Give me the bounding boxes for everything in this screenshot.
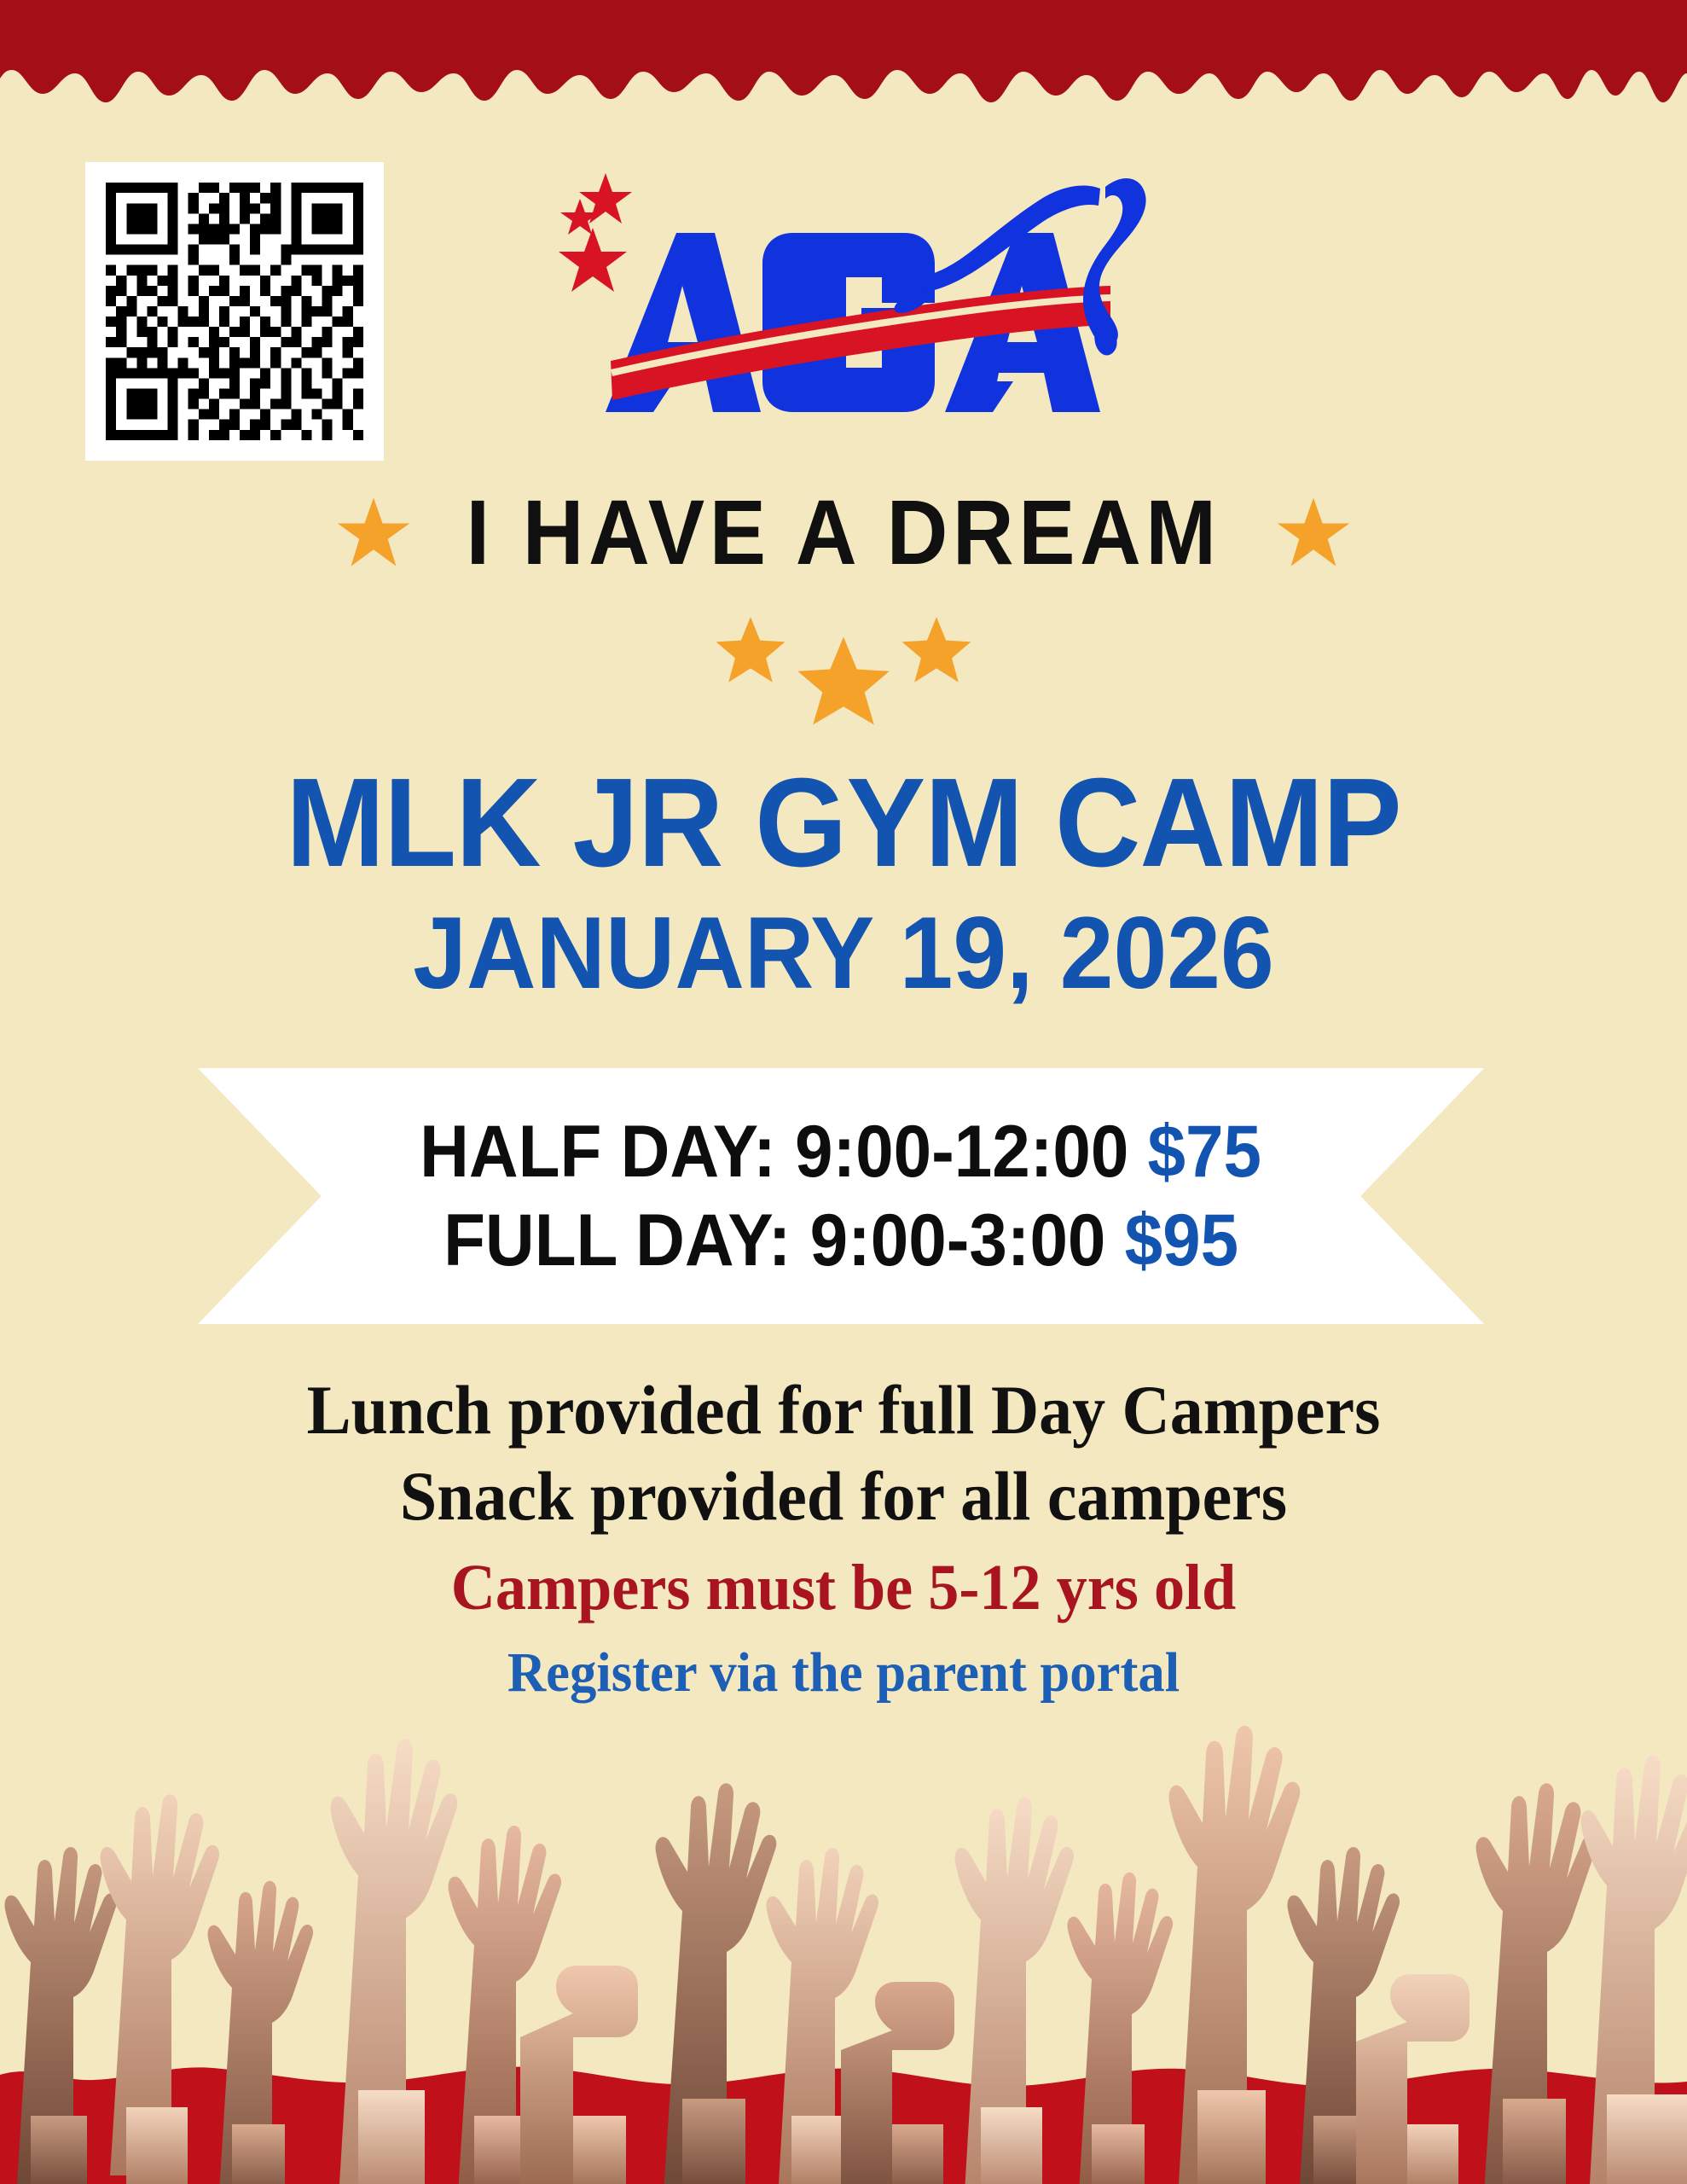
title-block: MLK JR GYM CAMP JANUARY 19, 2026 xyxy=(0,759,1687,1009)
info-lunch: Lunch provided for full Day Campers xyxy=(42,1369,1644,1450)
half-day-label: HALF DAY: 9:00-12:00 xyxy=(420,1111,1129,1193)
star-1-icon xyxy=(714,613,787,686)
full-day-price: $95 xyxy=(1125,1199,1238,1281)
info-snack: Snack provided for all campers xyxy=(42,1455,1644,1536)
price-row-half-day: HALF DAY: 9:00-12:00 $75 xyxy=(420,1111,1262,1193)
camp-title: MLK JR GYM CAMP xyxy=(50,759,1636,888)
top-scallop-band xyxy=(0,0,1687,102)
headline-row: I HAVE A DREAM xyxy=(0,486,1687,578)
half-day-price: $75 xyxy=(1148,1111,1261,1193)
star-right-icon xyxy=(1276,495,1351,570)
page-title: I HAVE A DREAM xyxy=(466,486,1220,578)
aga-logo xyxy=(537,158,1151,439)
star-left-icon xyxy=(336,495,411,570)
star-2-icon xyxy=(796,633,891,729)
raised-hands-illustration xyxy=(0,1706,1687,2184)
qr-code[interactable] xyxy=(85,162,384,461)
info-block: Lunch provided for full Day Campers Snac… xyxy=(0,1369,1687,1706)
price-row-full-day: FULL DAY: 9:00-3:00 $95 xyxy=(443,1199,1238,1281)
pricing-banner: HALF DAY: 9:00-12:00 $75 FULL DAY: 9:00-… xyxy=(198,1068,1484,1324)
star-3-icon xyxy=(900,613,973,686)
camp-date: JANUARY 19, 2026 xyxy=(50,897,1636,1009)
poster-flyer: I HAVE A DREAM MLK JR GYM CAMP JANUARY 1 xyxy=(0,0,1687,2184)
full-day-label: FULL DAY: 9:00-3:00 xyxy=(443,1199,1105,1281)
info-age-requirement: Campers must be 5-12 yrs old xyxy=(42,1550,1644,1625)
info-registration: Register via the parent portal xyxy=(42,1641,1644,1706)
decorative-stars-group xyxy=(0,613,1687,729)
logo-stars-icon xyxy=(559,173,632,292)
